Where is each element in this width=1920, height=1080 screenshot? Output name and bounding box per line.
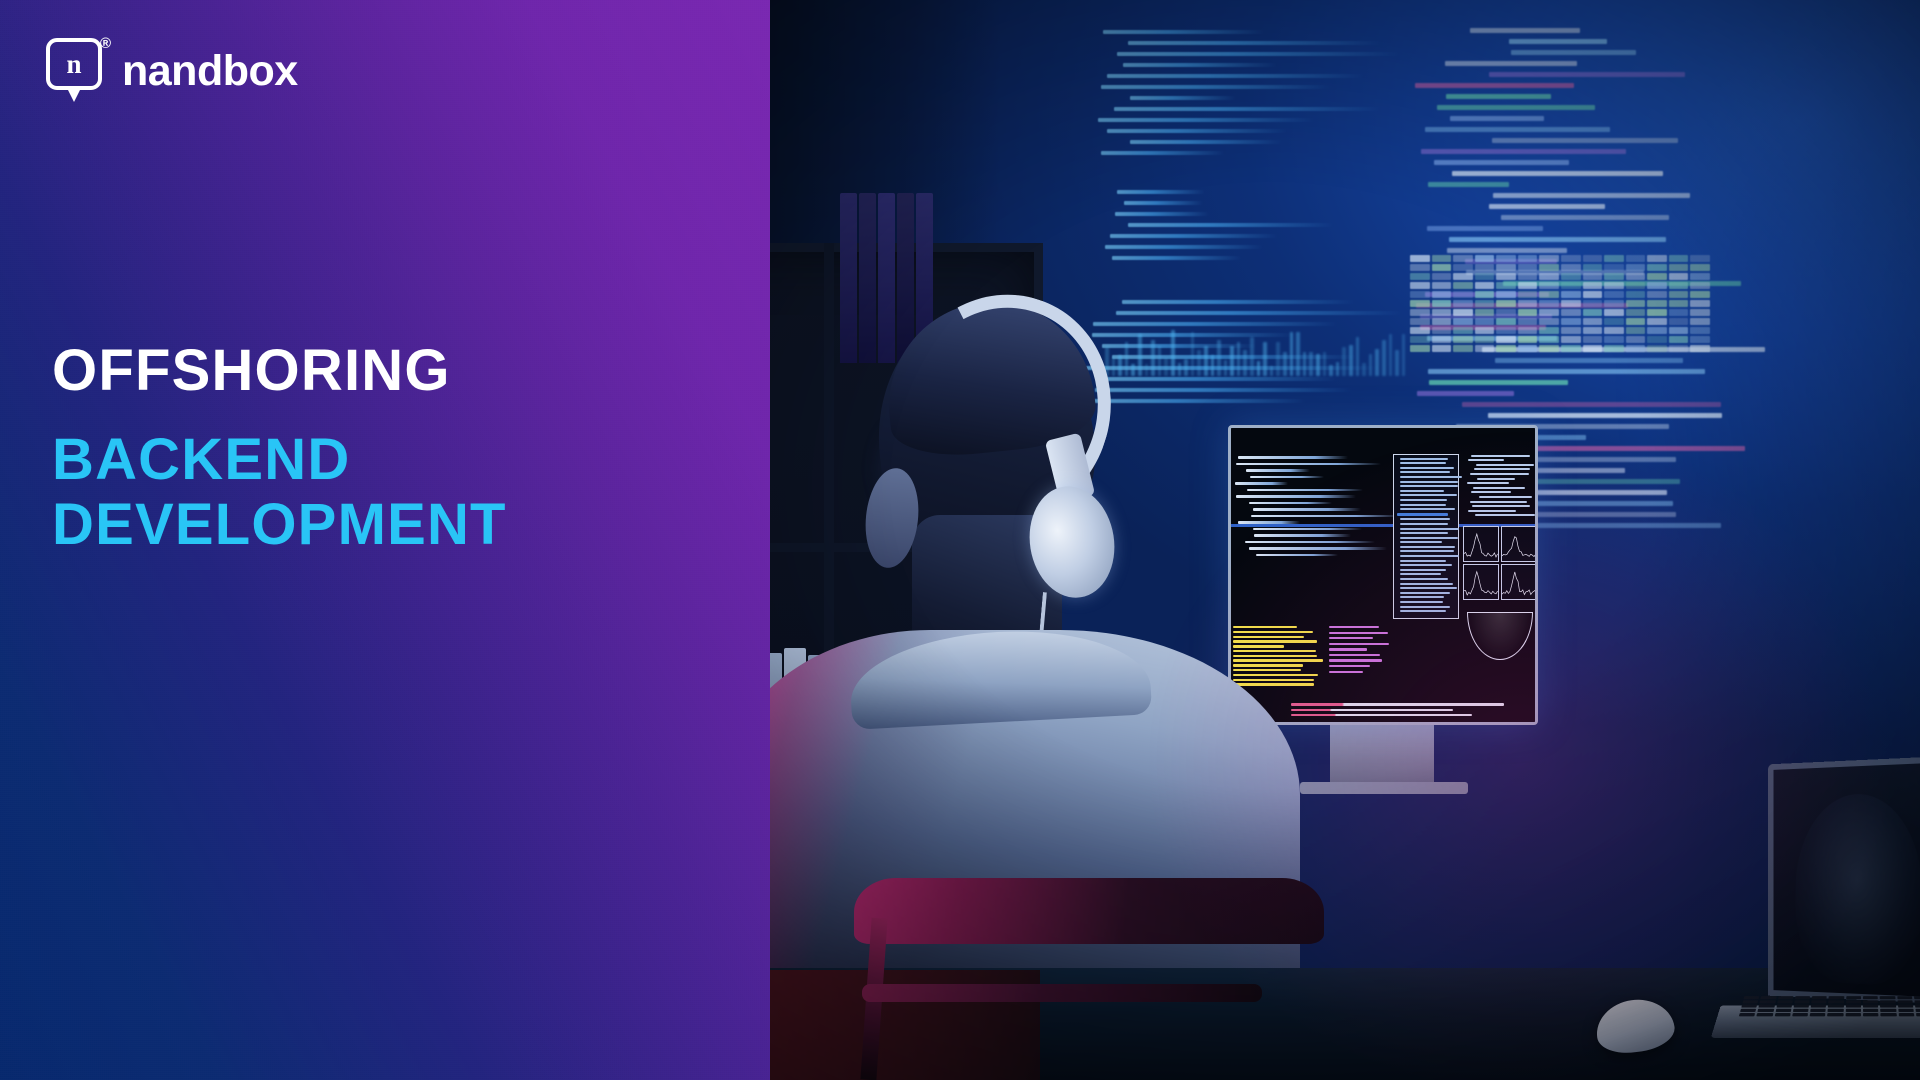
monitor-stand (1330, 725, 1434, 785)
nandbox-logo[interactable]: n ® nandbox (46, 38, 298, 104)
chair-rail (862, 984, 1262, 1002)
headline-line-1: OFFSHORING (52, 340, 752, 401)
chart-cell (1501, 564, 1537, 600)
chart-panel (1463, 526, 1537, 600)
chart-cell (1463, 564, 1499, 600)
headline-line-2: BACKEND (52, 429, 752, 492)
registered-trademark-icon: ® (100, 36, 111, 51)
monitor-base (1300, 782, 1468, 794)
headline-line-3: DEVELOPMENT (52, 494, 752, 557)
logo-letter: n (46, 38, 102, 90)
chart-cell (1463, 526, 1499, 562)
projected-code-block-1 (1090, 30, 1390, 162)
chair-backrest (854, 878, 1324, 944)
projected-code-block-2 (1100, 190, 1330, 267)
error-log-pane (1291, 703, 1521, 719)
laptop-screen-reflection (1796, 792, 1920, 986)
string-list-pane (1329, 626, 1401, 676)
file-tree-pane (1393, 454, 1459, 619)
chart-cell (1501, 526, 1537, 562)
chair (854, 878, 1324, 1080)
speech-bubble-icon: n ® (46, 38, 108, 104)
brand-wordmark: nandbox (122, 47, 298, 96)
bubble-tail (67, 88, 81, 102)
headline-block: OFFSHORING BACKEND DEVELOPMENT (52, 340, 752, 557)
projected-data-table (1410, 255, 1710, 345)
3d-dome-plot (1467, 612, 1533, 660)
laptop-screen[interactable] (1768, 755, 1920, 1004)
laptop-keyboard[interactable] (1739, 996, 1920, 1014)
brand-panel: n ® nandbox OFFSHORING BACKEND DEVELOPME… (0, 0, 770, 1080)
banner-canvas: n ® nandbox OFFSHORING BACKEND DEVELOPME… (0, 0, 1920, 1080)
